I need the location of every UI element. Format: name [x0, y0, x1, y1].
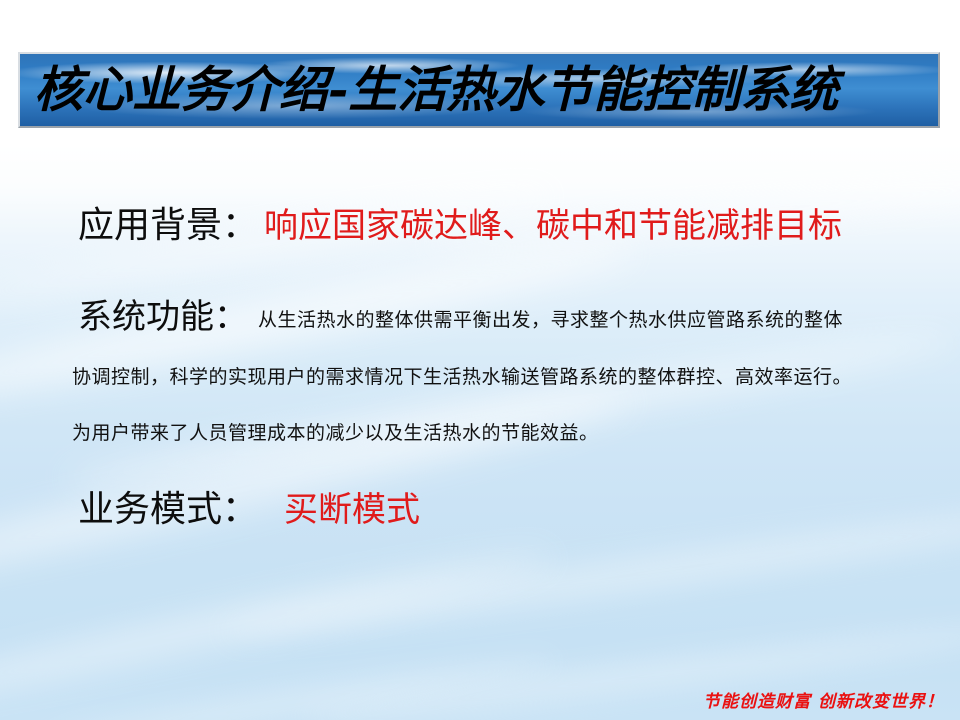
application-background-label: 应用背景： — [78, 205, 258, 246]
system-function-line-2: 协调控制，科学的实现用户的需求情况下生活热水输送管路系统的整体群控、高效率运行。 — [72, 368, 852, 387]
application-background-row: 应用背景：响应国家碳达峰、碳中和节能减排目标 — [78, 208, 842, 244]
title-banner: 核心业务介绍-生活热水节能控制系统 — [18, 52, 940, 128]
system-function-row: 系统功能：从生活热水的整体供需平衡出发，寻求整个热水供应管路系统的整体 — [78, 300, 843, 334]
system-function-label: 系统功能： — [78, 297, 248, 337]
slide-canvas: 核心业务介绍-生活热水节能控制系统 应用背景：响应国家碳达峰、碳中和节能减排目标… — [0, 0, 960, 720]
business-mode-row: 业务模式：买断模式 — [78, 492, 420, 528]
footer-slogan: 节能创造财富 创新改变世界！ — [703, 687, 944, 712]
cloud-streak — [63, 322, 958, 498]
business-mode-label: 业务模式： — [78, 489, 258, 530]
system-function-line-3: 为用户带来了人员管理成本的减少以及生活热水的节能效益。 — [72, 424, 599, 443]
application-background-value: 响应国家碳达峰、碳中和节能减排目标 — [264, 206, 842, 246]
business-mode-value: 买断模式 — [284, 490, 420, 530]
cloud-streak — [0, 540, 556, 719]
system-function-line-1: 从生活热水的整体供需平衡出发，寻求整个热水供应管路系统的整体 — [258, 309, 843, 331]
cloud-streak — [41, 649, 558, 720]
slide-title: 核心业务介绍-生活热水节能控制系统 — [34, 66, 838, 115]
cloud-streak — [0, 178, 558, 315]
